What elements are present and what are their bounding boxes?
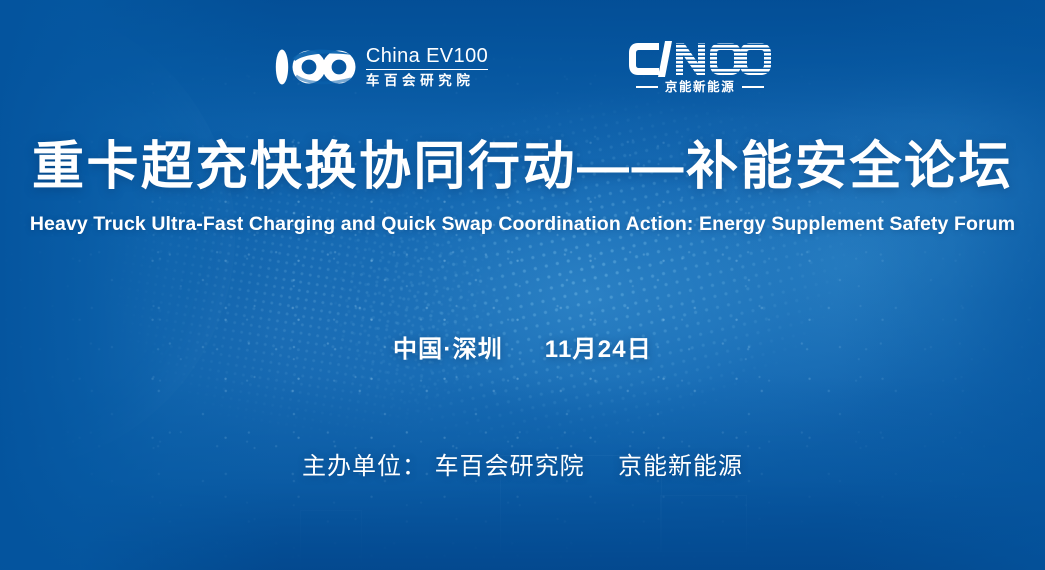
event-banner: China EV100 车百会研究院 — [0, 0, 1045, 570]
event-date: 11月24日 — [545, 336, 652, 363]
ev100-mark-icon — [273, 46, 357, 88]
event-location: 中国·深圳 — [393, 336, 503, 363]
ev100-english-name: China EV100 — [366, 46, 488, 66]
ev100-chinese-name: 车百会研究院 — [366, 69, 488, 88]
event-host-line: 主办单位： 车百会研究院 京能新能源 — [0, 455, 1045, 479]
cinoo-mark-icon — [628, 41, 772, 77]
event-title-english: Heavy Truck Ultra-Fast Charging and Quic… — [0, 213, 1045, 236]
logo-cinoo: 京能新能源 — [628, 41, 772, 94]
event-location-date: 中国·深圳 11月24日 — [0, 338, 1045, 362]
cinoo-chinese-name: 京能新能源 — [665, 81, 736, 94]
host-org-1: 车百会研究院 — [435, 453, 585, 480]
logo-row: China EV100 车百会研究院 — [0, 34, 1045, 100]
headline-block: 重卡超充快换协同行动——补能安全论坛 Heavy Truck Ultra-Fas… — [0, 138, 1045, 237]
cinoo-rule-left — [636, 86, 658, 88]
cinoo-rule-right — [742, 86, 764, 88]
event-title-chinese: 重卡超充快换协同行动——补能安全论坛 — [0, 138, 1045, 196]
host-org-2: 京能新能源 — [618, 453, 743, 480]
cinoo-chinese-name-row: 京能新能源 — [636, 81, 765, 94]
host-label: 主办单位： — [302, 453, 427, 480]
ev100-wordmark: China EV100 车百会研究院 — [366, 46, 488, 88]
logo-china-ev100: China EV100 车百会研究院 — [273, 46, 488, 88]
